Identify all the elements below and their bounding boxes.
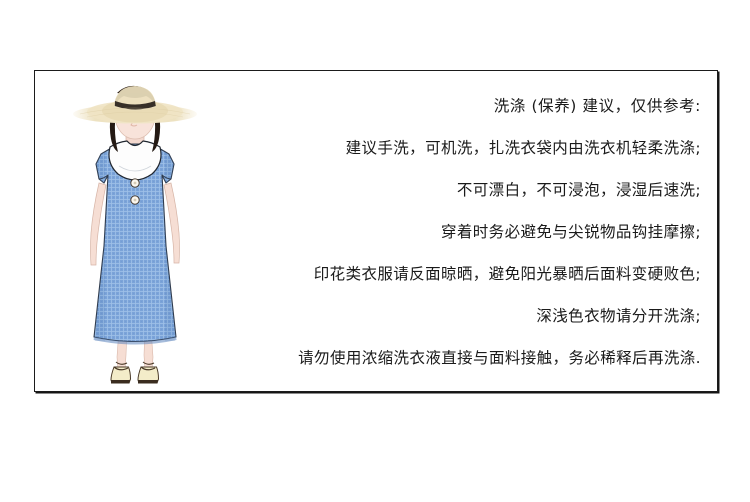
care-line-1: 建议手洗，可机洗，扎洗衣袋内由洗衣机轻柔洗涤; xyxy=(235,127,701,169)
care-title: 洗涤 (保养) 建议，仅供参考: xyxy=(235,85,701,127)
care-line-6: 请勿使用浓缩洗衣液直接与面料接触，务必稀释后再洗涤. xyxy=(235,337,701,379)
care-line-3: 穿着时务必避免与尖锐物品钩挂摩擦; xyxy=(235,211,701,253)
straw-sun-hat xyxy=(73,86,197,124)
illustration-svg xyxy=(35,71,235,391)
care-line-5: 深浅色衣物请分开洗涤; xyxy=(235,295,701,337)
care-instructions-page: 洗涤 (保养) 建议，仅供参考: 建议手洗，可机洗，扎洗衣袋内由洗衣机轻柔洗涤;… xyxy=(0,0,750,502)
care-line-4: 印花类衣服请反面晾晒，避免阳光暴晒后面料变硬败色; xyxy=(235,253,701,295)
care-card-frame: 洗涤 (保养) 建议，仅供参考: 建议手洗，可机洗，扎洗衣袋内由洗衣机轻柔洗涤;… xyxy=(34,70,718,392)
care-instructions-text: 洗涤 (保养) 建议，仅供参考: 建议手洗，可机洗，扎洗衣袋内由洗衣机轻柔洗涤;… xyxy=(235,85,701,379)
care-line-2: 不可漂白，不可浸泡，浸湿后速洗; xyxy=(235,169,701,211)
garment-illustration xyxy=(35,71,235,391)
